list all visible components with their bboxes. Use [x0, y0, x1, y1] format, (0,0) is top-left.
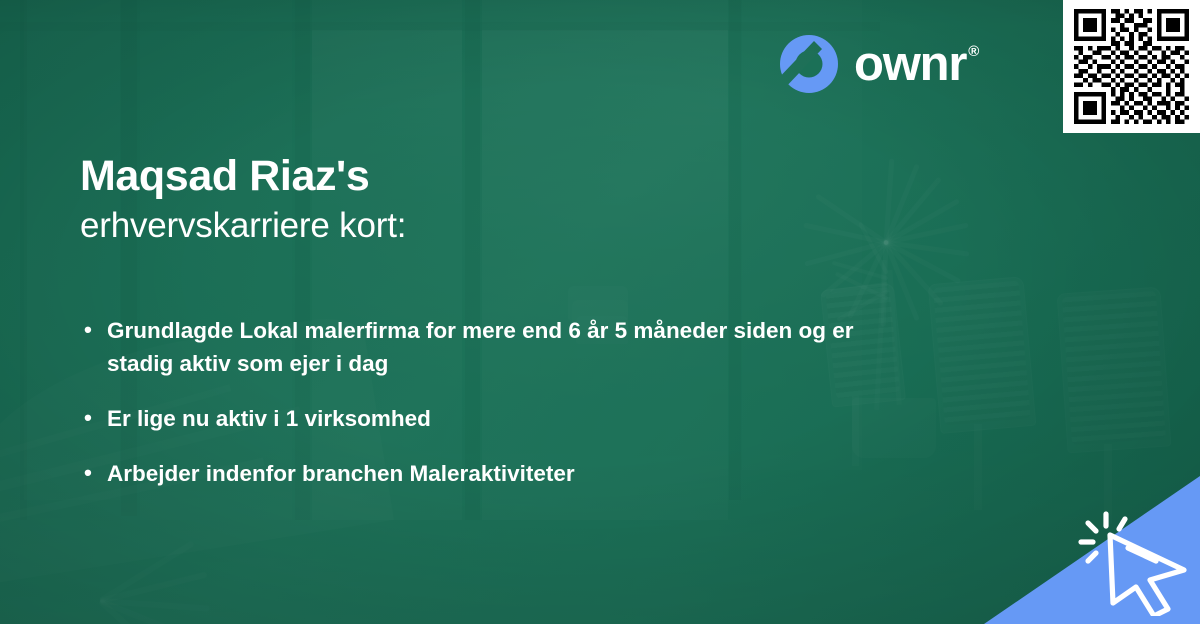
- wordmark-text: ownr: [854, 40, 966, 89]
- career-fact-item: Er lige nu aktiv i 1 virksomhed: [82, 402, 872, 435]
- ownr-circle-logo-icon: [778, 33, 840, 95]
- career-fact-item: Grundlagde Lokal malerfirma for mere end…: [82, 314, 872, 380]
- business-card-graphic: ownr ® Maqsad Riaz's erhvervskarriere ko…: [0, 0, 1200, 624]
- click-cursor-icon: [1076, 504, 1194, 616]
- ownr-wordmark: ownr ®: [854, 40, 978, 89]
- registered-trademark-symbol: ®: [968, 44, 978, 59]
- qr-code-icon: [1074, 9, 1189, 124]
- person-name-title: Maqsad Riaz's: [80, 152, 840, 201]
- headline-block: Maqsad Riaz's erhvervskarriere kort:: [80, 152, 840, 248]
- background-photo: [0, 0, 1200, 624]
- career-facts-list: Grundlagde Lokal malerfirma for mere end…: [82, 314, 872, 490]
- career-fact-item: Arbejder indenfor branchen Maleraktivite…: [82, 457, 872, 490]
- brand-logo-lockup[interactable]: ownr ®: [778, 33, 978, 95]
- vignette-overlay: [0, 0, 1200, 624]
- headline-subtitle: erhvervskarriere kort:: [80, 205, 840, 248]
- qr-code-panel[interactable]: [1063, 0, 1200, 133]
